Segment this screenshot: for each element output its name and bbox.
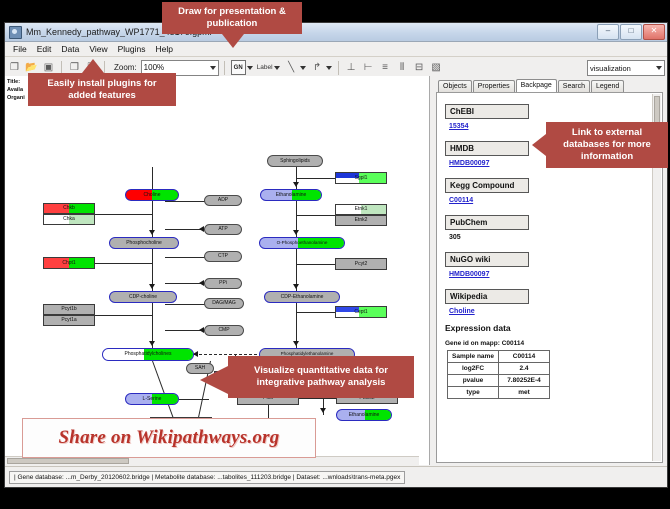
table-row: log2FC 2.4 (448, 363, 550, 375)
chevron-down-icon[interactable] (300, 66, 306, 70)
node-sphingolipids[interactable]: Sphingolipids (267, 155, 323, 167)
line-icon: ╲ (284, 60, 299, 75)
edge-cept1-to-backbone (296, 312, 336, 313)
genenode-icon: GN (231, 60, 246, 75)
node-label: Ethanolamine (276, 193, 307, 198)
menu-view[interactable]: View (84, 43, 112, 55)
node-label: Sphingolipids (280, 159, 310, 164)
edge-ppi-curve (165, 283, 201, 284)
arrowhead-down-6 (293, 284, 299, 289)
align-top-icon[interactable]: ⊥ (344, 60, 359, 75)
chevron-down-icon[interactable] (326, 66, 332, 70)
edge-adp-curve (165, 201, 205, 202)
edge-sphingo-eth-stub (152, 167, 153, 189)
node-atp[interactable]: ATP (204, 224, 242, 235)
zoom-value: 100% (144, 63, 164, 72)
table-row: pvalue 7.80252E-4 (448, 375, 550, 387)
gene-pcyt1a[interactable]: Pcyt1a (43, 315, 95, 326)
title-bar: Mm_Kennedy_pathway_WP1771_45176.gpml – □… (5, 23, 667, 42)
gene-label: Pcyt1a (61, 318, 76, 323)
node-label: ATP (218, 227, 227, 232)
node-cmp[interactable]: CMP (204, 325, 244, 336)
edge-atp-curve (165, 229, 201, 230)
tab-backpage[interactable]: Backpage (516, 79, 557, 92)
callout-links: Link to external databases for more info… (546, 122, 668, 168)
gene-label: Etnk2 (355, 218, 368, 223)
cell-value: 2.4 (499, 363, 550, 375)
chevron-down-icon[interactable] (247, 66, 253, 70)
node-label: DAG/MAG (212, 301, 236, 306)
node-ethanolamine-bottom[interactable]: Ethanolamine (336, 409, 392, 421)
cell-value: C00114 (499, 351, 550, 363)
table-row: Sample name C00114 (448, 351, 550, 363)
node-label: ADP (218, 198, 228, 203)
node-phosphatidylcholines[interactable]: Phosphatidylcholines (102, 348, 194, 361)
pathway-canvas-pane[interactable]: Title: Availa Organi (5, 76, 430, 465)
maximize-button[interactable]: □ (620, 24, 642, 40)
expression-data-table: Sample name C00114 log2FC 2.4 pvalue 7.8… (447, 350, 550, 399)
new-file-icon[interactable]: ❐ (7, 60, 22, 75)
table-row: type met (448, 387, 550, 399)
arrowhead-down-4 (293, 182, 299, 187)
gene-etnk2[interactable]: Etnk2 (335, 215, 387, 226)
node-label: O-Phosphoethanolamine (277, 241, 328, 246)
close-button[interactable]: ✕ (643, 24, 665, 40)
cell-key: log2FC (448, 363, 499, 375)
node-label: Ethanolamine (349, 413, 380, 418)
tab-search[interactable]: Search (558, 80, 590, 92)
callout-links-arrow (532, 134, 546, 156)
cell-key: Sample name (448, 351, 499, 363)
node-label: Choline (144, 193, 161, 198)
datanode-tool[interactable]: GN (231, 60, 253, 75)
edge-ctp-curve (165, 257, 205, 258)
gene-chpt1[interactable]: Chpt1 (43, 257, 95, 269)
menu-bar: File Edit Data View Plugins Help (5, 42, 667, 57)
arrowhead-down-8 (320, 408, 326, 413)
cell-key: type (448, 387, 499, 399)
db-header-hmdb: HMDB (445, 141, 529, 156)
line-tool[interactable]: ╲ (284, 60, 306, 75)
pathway-canvas[interactable]: Sphingolipids Choline Ethanolamine ADP (5, 76, 429, 465)
tab-properties[interactable]: Properties (473, 80, 515, 92)
arrowhead-down-5 (293, 230, 299, 235)
gene-id-on-mapp: Gene id on mapp: C00114 (445, 340, 662, 347)
align-left-icon[interactable]: ⊢ (361, 60, 376, 75)
common-width-icon[interactable]: ⊟ (412, 60, 427, 75)
gene-chka[interactable]: Chka (43, 214, 95, 225)
gene-label: Sgpl1 (355, 176, 368, 181)
distribute-vertical-icon[interactable]: ≡ (378, 60, 393, 75)
chevron-down-icon (210, 66, 216, 70)
share-banner-text: Share on Wikipathways.org (59, 427, 280, 449)
gene-pcyt2[interactable]: Pcyt2 (335, 258, 387, 270)
node-label: L-Serine (143, 397, 162, 402)
edge-chpt1-to-backbone (95, 263, 152, 264)
menu-edit[interactable]: Edit (32, 43, 57, 55)
status-text: | Gene database: ...m_Derby_20120602.bri… (9, 471, 405, 484)
node-adp[interactable]: ADP (204, 195, 242, 206)
tab-legend[interactable]: Legend (591, 80, 624, 92)
gene-cept1[interactable]: Cept1 (335, 306, 387, 318)
node-label: CMP (218, 328, 229, 333)
edge-chk-to-backbone (95, 214, 152, 215)
label-tool-text: Label (257, 64, 273, 71)
db-value-pubchem: 305 (449, 234, 662, 241)
db-header-kegg-compound: Kegg Compound (445, 178, 529, 193)
visualization-combobox[interactable]: visualization (587, 60, 665, 76)
gene-label: Pcyt2 (355, 262, 368, 267)
distribute-horizontal-icon[interactable]: ⦀ (395, 60, 410, 75)
gene-sgpl1[interactable]: Sgpl1 (335, 172, 387, 184)
chevron-down-icon (656, 66, 662, 70)
visualization-value: visualization (590, 64, 631, 73)
arrowhead-down-2 (149, 284, 155, 289)
screenshot-root: Mm_Kennedy_pathway_WP1771_45176.gpml – □… (0, 0, 670, 509)
expression-data-title: Expression data (445, 323, 662, 333)
db-link-kegg-compound[interactable]: C00114 (449, 197, 662, 204)
menu-data[interactable]: Data (56, 43, 84, 55)
interaction-icon: ↱ (310, 60, 325, 75)
gene-label: Cept1 (354, 310, 367, 315)
edge-cmp-curve (165, 330, 201, 331)
node-o-phosphoethanolamine[interactable]: O-Phosphoethanolamine (259, 237, 345, 249)
cell-value: 7.80252E-4 (499, 375, 550, 387)
callout-visualize: Visualize quantitative data for integrat… (228, 356, 414, 398)
common-height-icon[interactable]: ▧ (429, 60, 444, 75)
zoom-label: Zoom: (114, 63, 137, 72)
arrowhead-down-7 (293, 341, 299, 346)
edge-pcyt1-to-backbone (95, 315, 152, 316)
side-panel-tabs: Objects Properties Backpage Search Legen… (430, 76, 667, 92)
chevron-down-icon[interactable] (274, 66, 280, 70)
node-label: CTP (218, 254, 228, 259)
gene-label: Pcyt1b (61, 307, 76, 312)
menu-plugins[interactable]: Plugins (113, 43, 151, 55)
db-header-wikipedia: Wikipedia (445, 289, 529, 304)
gene-label: Chka (63, 217, 75, 222)
callout-draw: Draw for presentation & publication (162, 2, 302, 34)
cell-value: met (499, 387, 550, 399)
edge-etnk-to-backbone (296, 215, 336, 216)
label-tool[interactable]: Label (257, 64, 280, 71)
gene-etnk1[interactable]: Etnk1 (335, 204, 387, 215)
callout-visualize-arrow (200, 366, 228, 394)
menu-file[interactable]: File (8, 43, 32, 55)
menu-help[interactable]: Help (151, 43, 178, 55)
gene-label: Etnk1 (355, 207, 368, 212)
arrowhead-down-1 (149, 230, 155, 235)
status-bar: | Gene database: ...m_Derby_20120602.bri… (5, 466, 667, 487)
window-controls: – □ ✕ (597, 24, 665, 40)
db-header-chebi: ChEBI (445, 104, 529, 119)
callout-plugins-arrow (82, 59, 104, 73)
callout-draw-arrow (222, 34, 244, 48)
edge-lserine-left-connector (179, 399, 209, 400)
gene-label: Chpt1 (62, 261, 75, 266)
toolbar-separator-4 (338, 61, 339, 75)
node-label: Phosphocholine (126, 241, 162, 246)
node-choline-top[interactable]: Choline (125, 189, 179, 201)
db-link-wikipedia[interactable]: Choline (449, 308, 662, 315)
callout-plugins: Easily install plugins for added feature… (28, 73, 176, 106)
minimize-button[interactable]: – (597, 24, 619, 40)
db-header-nugo-wiki: NuGO wiki (445, 252, 529, 267)
arrowhead-down-3 (149, 341, 155, 346)
scrollbar-thumb[interactable] (7, 458, 129, 464)
gene-chkb[interactable]: Chkb (43, 203, 95, 214)
node-ethanolamine-top[interactable]: Ethanolamine (260, 189, 322, 201)
tab-objects[interactable]: Objects (438, 80, 472, 92)
node-dag-mag[interactable]: DAG/MAG (204, 298, 244, 309)
db-header-pubchem: PubChem (445, 215, 529, 230)
node-phosphocholine[interactable]: Phosphocholine (109, 237, 179, 249)
edge-sgpl1-to-backbone (296, 178, 336, 179)
app-icon (9, 26, 22, 39)
node-label: CDP-Ethanolamine (281, 295, 324, 300)
share-banner: Share on Wikipathways.org (22, 418, 316, 458)
node-label: CDP-choline (129, 295, 157, 300)
node-label: Phosphatidylcholines (125, 352, 172, 357)
node-cdp-ethanolamine[interactable]: CDP-Ethanolamine (264, 291, 340, 303)
edge-dag-curve (165, 304, 205, 305)
gene-label: Chkb (63, 206, 75, 211)
db-link-nugo-wiki[interactable]: HMDB00097 (449, 271, 662, 278)
edge-ptdeth-to-ptdcho (194, 354, 262, 355)
toolbar-separator-3 (224, 61, 225, 75)
node-l-serine-left[interactable]: L-Serine (125, 393, 179, 405)
node-cdp-choline[interactable]: CDP-choline (109, 291, 177, 303)
node-label: PPi (219, 281, 227, 286)
interaction-tool[interactable]: ↱ (310, 60, 332, 75)
edge-ptdss2-connector (299, 398, 336, 399)
node-ctp[interactable]: CTP (204, 251, 242, 262)
cell-key: pvalue (448, 375, 499, 387)
edge-pcyt2-to-backbone (296, 264, 336, 265)
gene-pcyt1b[interactable]: Pcyt1b (43, 304, 95, 315)
node-ppi[interactable]: PPi (204, 278, 242, 289)
